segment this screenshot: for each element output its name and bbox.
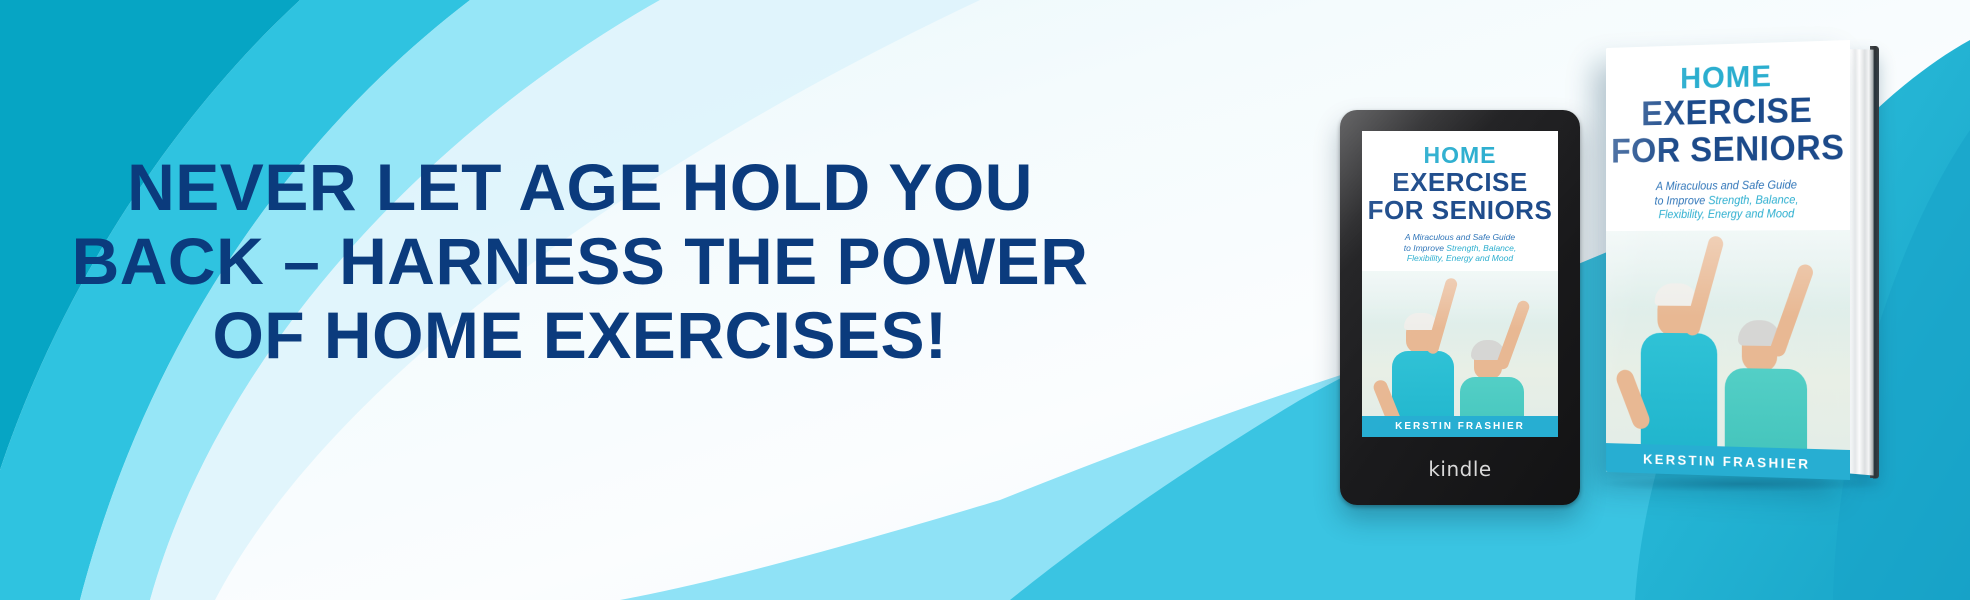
headline: NEVER LET AGE HOLD YOU BACK – HARNESS TH… (0, 150, 1160, 372)
kindle-device[interactable]: HOME EXERCISE FOR SENIORS A Miraculous a… (1340, 110, 1580, 505)
ebook-author-name: KERSTIN FRASHIER (1395, 421, 1525, 432)
ebook-title-home: HOME (1362, 144, 1558, 167)
print-title-home: HOME (1606, 58, 1850, 95)
headline-line-3: OF HOME EXERCISES! (0, 298, 1160, 372)
ebook-author-band: KERSTIN FRASHIER (1362, 416, 1558, 437)
headline-line-2: BACK – HARNESS THE POWER (0, 224, 1160, 298)
print-cover-photo (1606, 230, 1850, 480)
printed-book[interactable]: HOME EXERCISE FOR SENIORS A Miraculous a… (1592, 40, 1912, 480)
print-cover-artwork: HOME EXERCISE FOR SENIORS A Miraculous a… (1606, 40, 1850, 480)
ebook-cover-title: HOME EXERCISE FOR SENIORS (1362, 131, 1558, 223)
promo-banner: NEVER LET AGE HOLD YOU BACK – HARNESS TH… (0, 0, 1970, 600)
book-front-cover: HOME EXERCISE FOR SENIORS A Miraculous a… (1606, 40, 1850, 480)
print-title-for-seniors: FOR SENIORS (1606, 130, 1850, 168)
print-subtitle-line-2: to Improve Strength, Balance, (1622, 193, 1832, 209)
kindle-brand-label: kindle (1340, 457, 1580, 481)
ebook-cover-photo (1362, 271, 1558, 437)
ebook-subtitle-line-3: Flexibility, Energy and Mood (1376, 253, 1545, 264)
print-cover-title: HOME EXERCISE FOR SENIORS (1606, 40, 1850, 169)
headline-line-1: NEVER LET AGE HOLD YOU (0, 150, 1160, 224)
ebook-title-exercise: EXERCISE (1362, 169, 1558, 195)
print-title-exercise: EXERCISE (1606, 92, 1850, 132)
ebook-cover-artwork: HOME EXERCISE FOR SENIORS A Miraculous a… (1362, 131, 1558, 437)
print-author-band: KERSTIN FRASHIER (1606, 443, 1850, 480)
print-cover-subtitle: A Miraculous and Safe Guide to Improve S… (1606, 178, 1850, 224)
ebook-cover-subtitle: A Miraculous and Safe Guide to Improve S… (1362, 232, 1558, 265)
ebook-subtitle-line-1: A Miraculous and Safe Guide (1376, 232, 1545, 243)
kindle-screen: HOME EXERCISE FOR SENIORS A Miraculous a… (1362, 131, 1558, 437)
ebook-subtitle-line-2: to Improve Strength, Balance, (1376, 243, 1545, 254)
print-author-name: KERSTIN FRASHIER (1643, 451, 1810, 472)
ebook-title-for-seniors: FOR SENIORS (1362, 197, 1558, 223)
print-subtitle-line-3: Flexibility, Energy and Mood (1622, 208, 1832, 224)
